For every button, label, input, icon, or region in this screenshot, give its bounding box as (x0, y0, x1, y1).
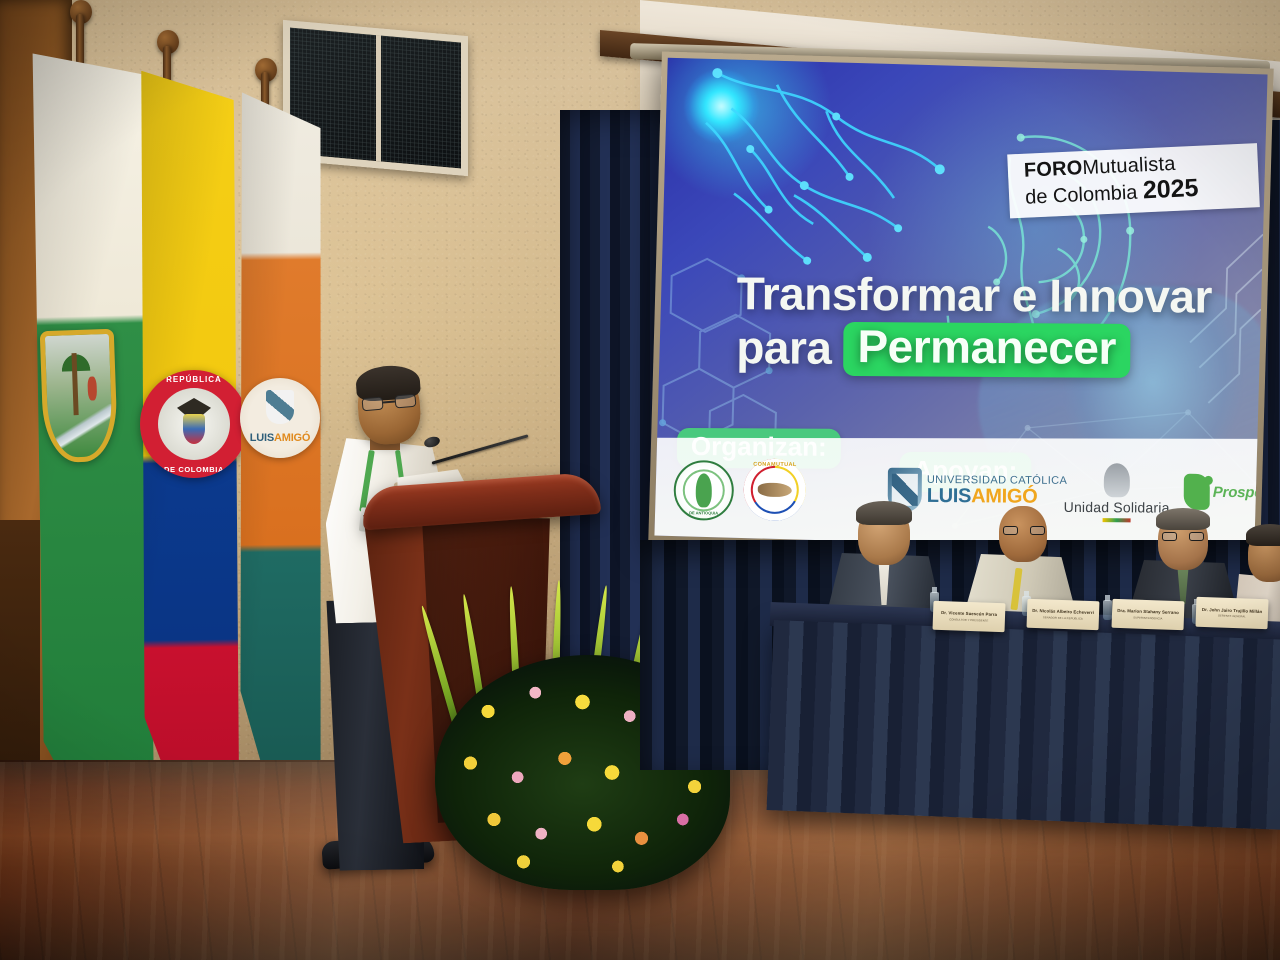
luis-amigo-flag-shield-icon (266, 390, 294, 424)
conference-photo-scene: FOROMutualista de Colombia 2025 Transfor… (0, 0, 1280, 960)
eyeglass-lens-left (1162, 532, 1177, 541)
luis-amigo-flag-emblem: LUISAMIGÓ (240, 378, 320, 458)
placard-3-name: Dra. Marion Stahany Serrano (1117, 608, 1179, 615)
slide-surface: FOROMutualista de Colombia 2025 Transfor… (654, 58, 1267, 553)
name-placard-1: Dr. Vicente Suescún Parra CONSULTOR Y PR… (933, 601, 1006, 632)
eyeglass-lens-right (1189, 532, 1204, 541)
placard-3-role: SUPERINTENDENCIA (1133, 616, 1162, 620)
foro-badge-colombia: de Colombia (1025, 182, 1138, 209)
conamutual-icon: CONAMUTUAL (744, 459, 806, 521)
slide-headline-line1: Transformar e Innovar (737, 270, 1257, 321)
panelist-4-hair (1246, 524, 1280, 546)
placard-1-role: CONSULTOR Y PRESIDENTE (949, 618, 988, 623)
prosperitas-text: Prospéritas (1213, 483, 1268, 501)
panelist-3-hair (1156, 508, 1210, 530)
unidad-solidaria-icon (1104, 463, 1130, 497)
fundacion-mutual-icon: DE ANTIOQUIA (674, 460, 734, 520)
foro-badge-year: 2025 (1142, 174, 1199, 204)
foro-badge: FOROMutualista de Colombia 2025 (1007, 143, 1260, 219)
name-placard-4: Dr. John Jairo Trujillo Millán GERENTE G… (1195, 597, 1268, 629)
eyeglass-lens-left (1003, 526, 1018, 535)
placard-2-name: Dr. Nicolás Albeiro Echeverri (1032, 608, 1094, 615)
eyeglass-lens-right (1030, 526, 1045, 535)
panelist-3-eyeglasses-icon (1162, 532, 1204, 541)
placard-4-name: Dr. John Jairo Trujillo Millán (1202, 607, 1262, 614)
placard-1-name: Dr. Vicente Suescún Parra (941, 610, 997, 617)
colombia-shield-icon (183, 414, 205, 444)
conamutual-hands-decor (758, 483, 792, 497)
placard-4-role: GERENTE GENERAL (1218, 615, 1246, 619)
fundacion-figure-decor (696, 473, 712, 507)
eyeglass-bridge (383, 400, 395, 403)
luis-amigo-flag-amigo: AMIGÓ (274, 432, 310, 444)
placard-2-role: SENADOR DE LA REPÚBLICA (1043, 616, 1083, 621)
name-placard-3: Dra. Marion Stahany Serrano SUPERINTENDE… (1112, 599, 1185, 630)
colombia-seal-text-top: REPÚBLICA (140, 375, 248, 384)
panelist-1-hair (856, 501, 912, 525)
slide-headline-para: para (736, 325, 832, 373)
eyeglass-lens-left (362, 397, 384, 412)
name-placard-2: Dr. Nicolás Albeiro Echeverri SENADOR DE… (1027, 599, 1100, 630)
water-bottle[interactable] (1103, 600, 1112, 620)
antioquia-coat-of-arms (40, 329, 119, 464)
slide-headline: Transformar e Innovar para Permanecer (736, 270, 1257, 378)
panelist-2-eyeglasses-icon (1003, 526, 1045, 535)
foro-badge-word-foro: FORO (1023, 157, 1083, 182)
colombia-seal-text-bottom: DE COLOMBIA (140, 465, 248, 474)
projection-screen[interactable]: FOROMutualista de Colombia 2025 Transfor… (648, 52, 1273, 559)
slide-headline-line2: para Permanecer (736, 322, 1256, 379)
luis-amigo-flag-text: LUISAMIGÓ (240, 432, 320, 444)
slide-headline-highlight: Permanecer (843, 322, 1130, 377)
eyeglass-lens-right (394, 394, 416, 409)
antioquia-river-decor (53, 404, 113, 452)
logo-conamutual: CONAMUTUAL (744, 459, 806, 521)
luis-amigo-flag-luis: LUIS (250, 432, 274, 444)
antioquia-figure-decor (87, 376, 97, 400)
colombia-national-seal: REPÚBLICA DE COLOMBIA (140, 370, 248, 478)
conamutual-inner-decor (753, 468, 797, 512)
fundacion-logo-subtext: DE ANTIOQUIA (676, 510, 732, 515)
window-mullion (376, 35, 381, 161)
panel-table-skirt (767, 620, 1280, 830)
logo-fundacion-mutual-antioquia: DE ANTIOQUIA (674, 460, 734, 520)
